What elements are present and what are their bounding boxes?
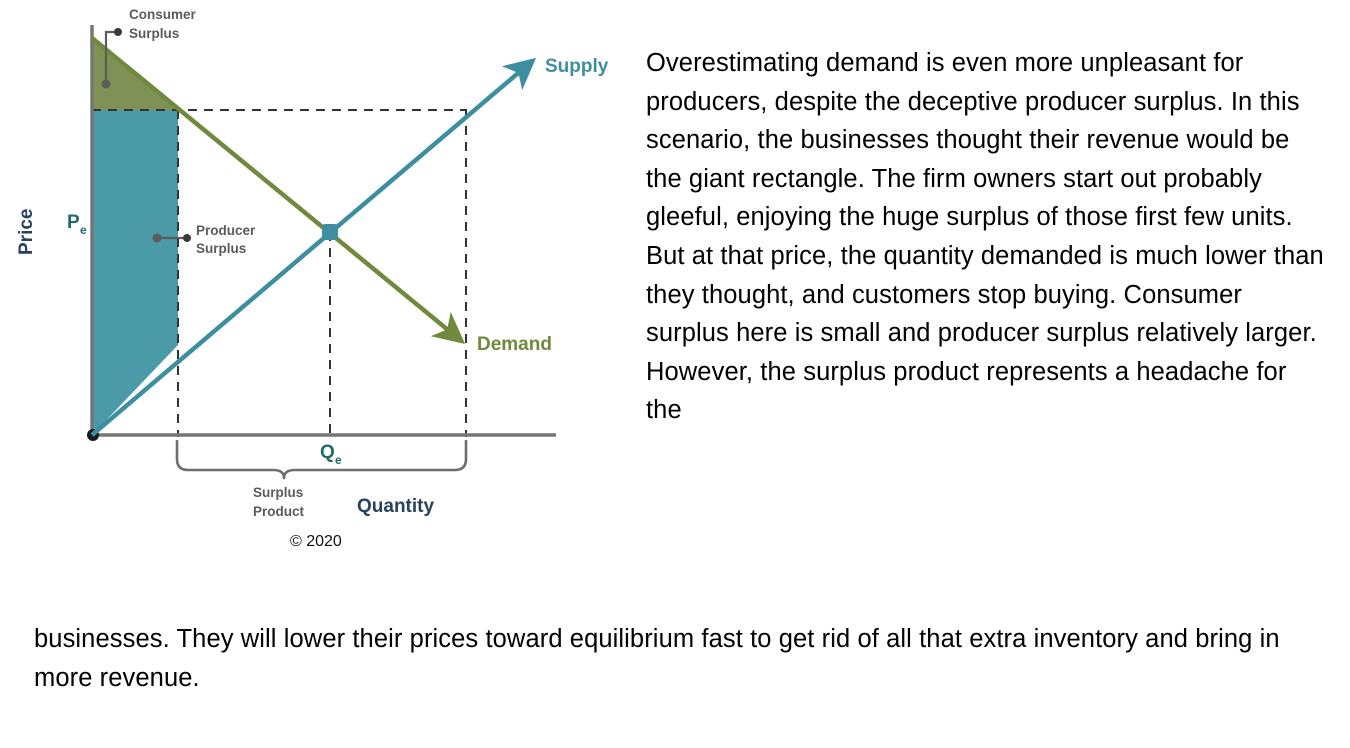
producer-surplus-label-line2: Surplus	[196, 241, 246, 256]
copyright-notice: © 2020	[290, 533, 342, 551]
supply-curve-label: Supply	[545, 56, 609, 77]
consumer-surplus-label-line2: Surplus	[129, 26, 179, 41]
article-paragraph-main: Overestimating demand is even more unple…	[646, 44, 1324, 430]
price-equilibrium-subscript: e	[80, 223, 87, 237]
price-equilibrium-label: P e	[67, 212, 87, 237]
consumer-surplus-label-line1: Consumer	[129, 7, 197, 22]
supply-demand-chart: Consumer Surplus Producer Surplus P e Q …	[0, 0, 640, 580]
quantity-equilibrium-subscript: e	[335, 453, 342, 467]
equilibrium-point-marker	[322, 224, 338, 240]
y-axis-label: Price	[16, 209, 37, 255]
producer-surplus-label-line1: Producer	[196, 223, 256, 238]
article-paragraph-tail: businesses. They will lower their prices…	[34, 620, 1324, 697]
quantity-equilibrium-label: Q e	[320, 442, 342, 467]
consumer-surplus-leader-dot-start	[114, 28, 122, 36]
demand-curve-label: Demand	[477, 334, 552, 355]
producer-surplus-leader-dot-end	[183, 234, 191, 242]
page-root: Consumer Surplus Producer Surplus P e Q …	[0, 0, 1350, 748]
consumer-surplus-leader-dot-end	[102, 80, 111, 89]
surplus-product-label-line1: Surplus	[253, 485, 303, 500]
producer-surplus-leader-dot-start	[153, 234, 162, 243]
quantity-equilibrium-letter: Q	[320, 442, 335, 463]
surplus-product-label-line2: Product	[253, 504, 305, 519]
price-equilibrium-letter: P	[67, 212, 80, 233]
producer-surplus-region	[92, 110, 178, 435]
x-axis-label: Quantity	[357, 496, 434, 517]
